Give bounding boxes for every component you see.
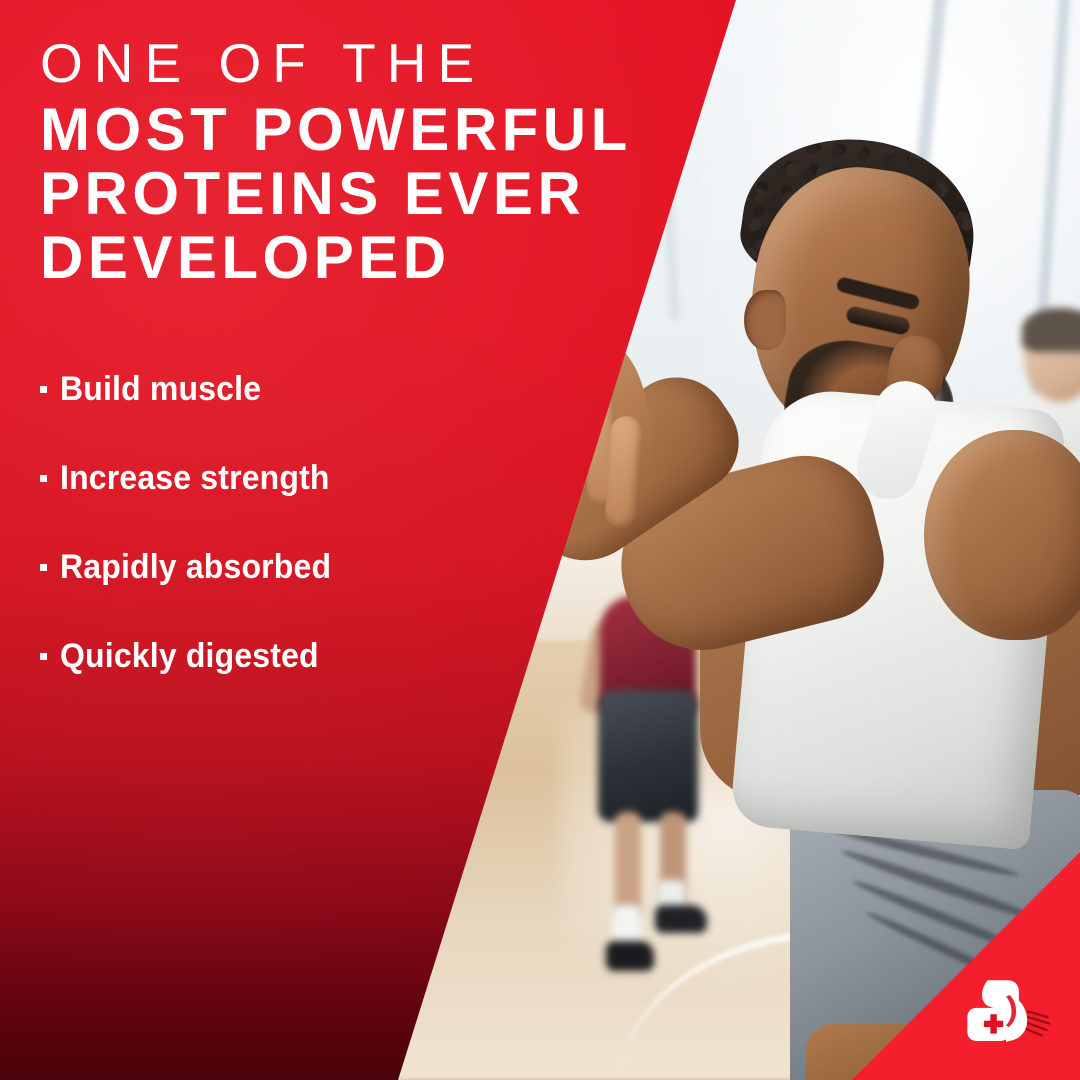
headline-line-3: PROTEINS EVER — [40, 162, 740, 226]
list-item: Increase strength — [40, 434, 460, 523]
headline-line-1: ONE OF THE — [40, 28, 740, 98]
benefit-label: Increase strength — [60, 459, 330, 498]
page-title: ONE OF THE MOST POWERFUL PROTEINS EVER D… — [40, 28, 740, 290]
background-player-shorts — [598, 690, 698, 822]
square-bullet-icon — [40, 386, 47, 393]
benefit-label: Quickly digested — [60, 637, 319, 676]
brand-logo[interactable] — [960, 960, 1052, 1052]
second-background-player-hair — [1022, 308, 1080, 352]
list-item: Rapidly absorbed — [40, 523, 460, 612]
benefit-label: Rapidly absorbed — [60, 548, 331, 587]
list-item: Quickly digested — [40, 612, 460, 701]
background-player-leg — [615, 812, 641, 920]
promo-poster: ONE OF THE MOST POWERFUL PROTEINS EVER D… — [0, 0, 1080, 1080]
benefits-list: Build muscle Increase strength Rapidly a… — [40, 345, 460, 701]
square-bullet-icon — [40, 564, 47, 571]
square-bullet-icon — [40, 475, 47, 482]
list-item: Build muscle — [40, 345, 460, 434]
background-player-shoe — [606, 941, 654, 971]
headline-line-2: MOST POWERFUL — [40, 98, 740, 162]
headline-line-4: DEVELOPED — [40, 226, 740, 290]
flexing-bicep-with-medical-cross-icon — [967, 980, 1049, 1042]
benefit-label: Build muscle — [60, 370, 261, 409]
athlete-ear — [744, 290, 786, 350]
square-bullet-icon — [40, 653, 47, 660]
background-player-shoe — [655, 905, 707, 933]
